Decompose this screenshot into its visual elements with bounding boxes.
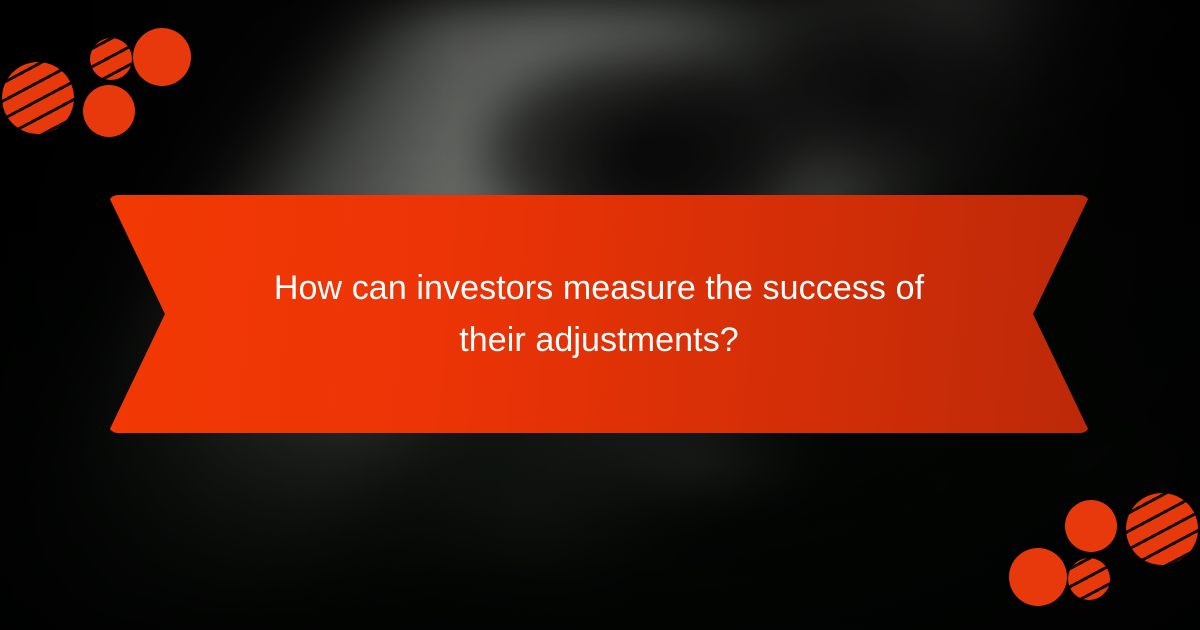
medium-solid-circle-icon <box>133 28 191 86</box>
headline-text: How can investors measure the success of… <box>239 262 959 366</box>
medium-solid-circle-icon <box>1009 548 1067 606</box>
decorative-circles-top-left <box>0 0 200 145</box>
small-solid-circle-icon <box>83 85 135 137</box>
social-card: How can investors measure the success of… <box>0 0 1200 630</box>
headline-ribbon-banner: How can investors measure the success of… <box>108 195 1090 433</box>
decorative-circles-bottom-right <box>1000 485 1200 630</box>
large-striped-circle-icon <box>1126 493 1198 565</box>
large-striped-circle-icon <box>2 62 74 134</box>
small-striped-circle-icon <box>90 38 132 80</box>
small-solid-circle-icon <box>1065 500 1117 552</box>
small-striped-circle-icon <box>1068 558 1110 600</box>
